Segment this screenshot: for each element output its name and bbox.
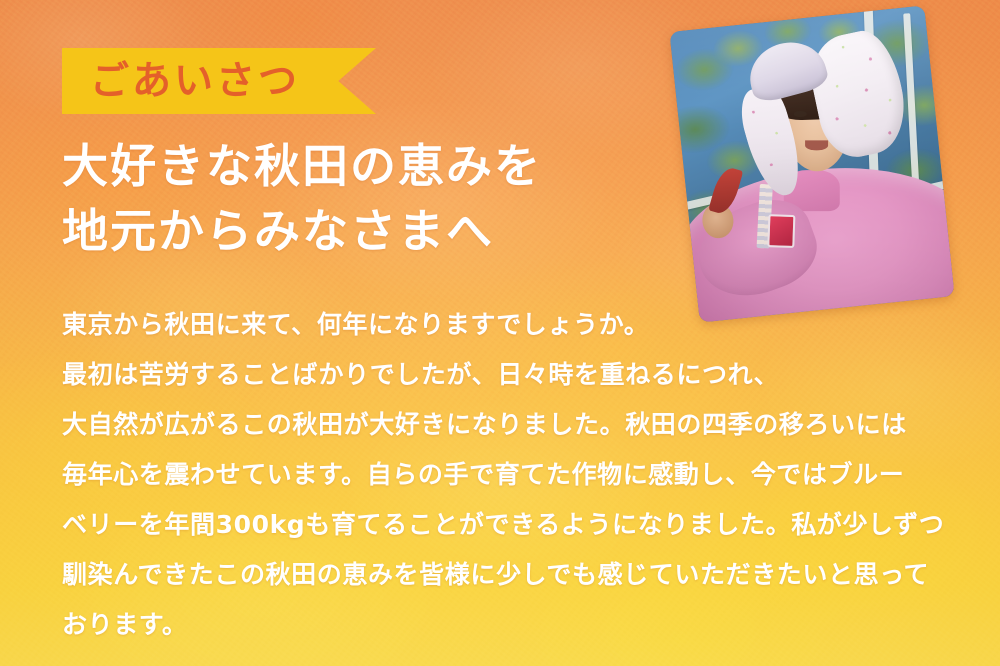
- body-line-4: 毎年心を震わせています。自らの手で育てた作物に感動し、今ではブルー: [62, 450, 962, 500]
- ribbon-label: ごあいさつ: [90, 62, 300, 101]
- greeting-section: ごあいさつ 大好きな秋田の恵みを 地元からみなさまへ 東京から秋田に来て、何年に…: [0, 0, 1000, 666]
- body-line-2: 最初は苦労することばかりでしたが、日々時を重ねるにつれ、: [62, 350, 962, 400]
- farmer-portrait-photo: [669, 5, 954, 322]
- body-line-3: 大自然が広がるこの秋田が大好きになりました。秋田の四季の移ろいには: [62, 400, 962, 450]
- page-title: 大好きな秋田の恵みを 地元からみなさまへ: [62, 134, 662, 265]
- section-ribbon-banner: ごあいさつ: [62, 48, 376, 114]
- body-line-6: 馴染んできたこの秋田の恵みを皆様に少しでも感じていただきたいと思って: [62, 550, 962, 600]
- photo-shading-overlay: [669, 5, 954, 322]
- photo-frame: [669, 5, 954, 322]
- body-line-5: ベリーを年間300kgも育てることができるようになりました。私が少しずつ: [62, 500, 962, 550]
- greeting-body-text: 東京から秋田に来て、何年になりますでしょうか。 最初は苦労することばかりでしたが…: [62, 300, 962, 650]
- headline-line-2: 地元からみなさまへ: [62, 199, 662, 264]
- body-line-7: おります。: [62, 600, 962, 650]
- headline-line-1: 大好きな秋田の恵みを: [62, 134, 662, 199]
